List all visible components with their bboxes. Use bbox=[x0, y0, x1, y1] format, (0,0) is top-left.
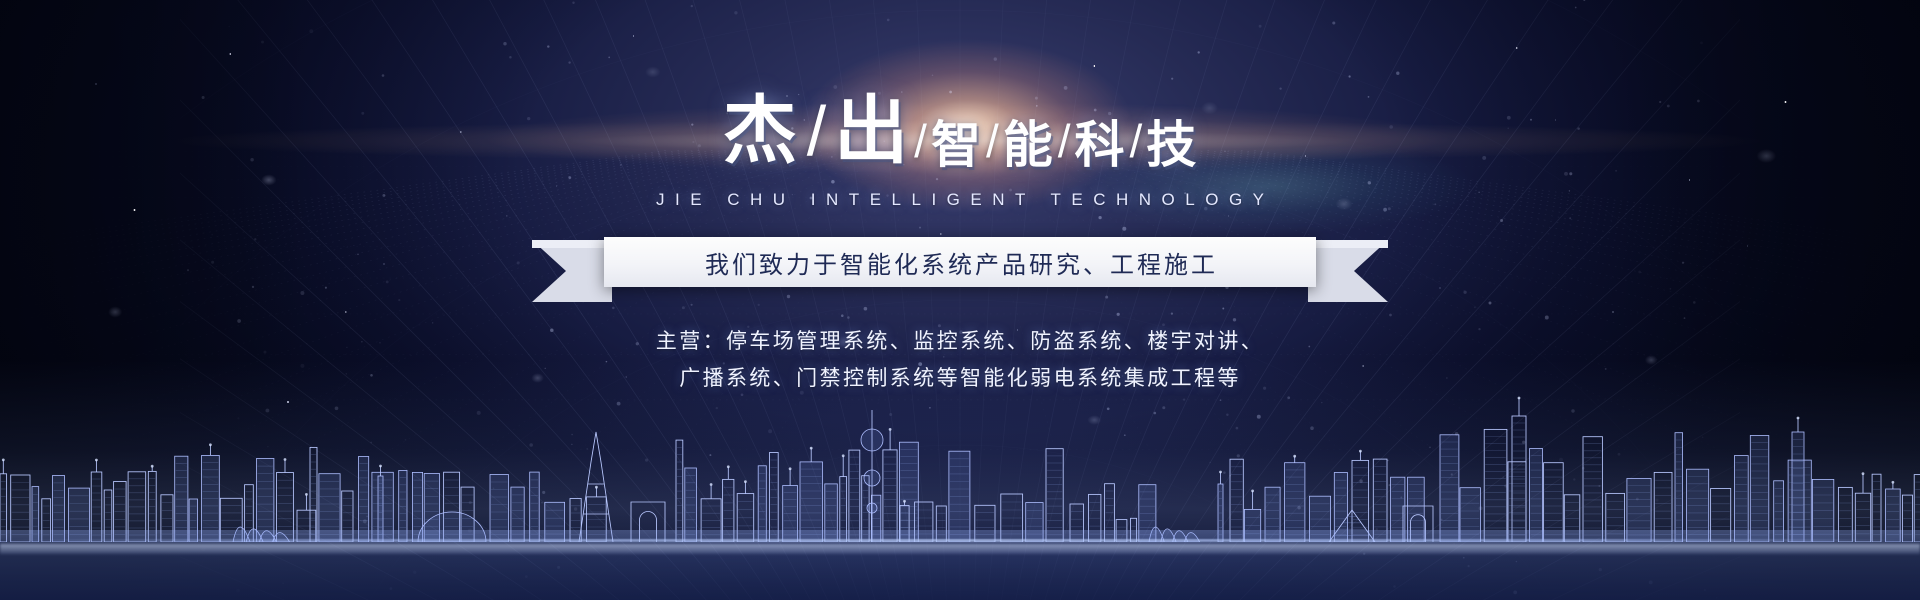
title-char-4: 能 bbox=[1003, 120, 1054, 170]
ribbon-banner: 我们致力于智能化系统产品研究、工程施工 bbox=[0, 234, 1920, 290]
ribbon-tail-left-icon bbox=[532, 240, 612, 302]
hero-banner: 杰 / 出 / 智 / 能 / 科 / 技 JIE CHU INTELLIGEN… bbox=[0, 0, 1920, 600]
title-slash-4: / bbox=[1058, 114, 1071, 168]
title-char-1: 杰 bbox=[723, 94, 799, 168]
title-char-2: 出 bbox=[834, 94, 910, 168]
description-paragraph: 主营：停车场管理系统、监控系统、防盗系统、楼宇对讲、 广播系统、门禁控制系统等智… bbox=[0, 324, 1920, 398]
title-char-5: 科 bbox=[1075, 120, 1126, 170]
title-char-6: 技 bbox=[1146, 120, 1197, 170]
description-line-1: 主营：停车场管理系统、监控系统、防盗系统、楼宇对讲、 bbox=[0, 324, 1920, 361]
title-slash-2: / bbox=[914, 114, 927, 168]
banner-content: 杰 / 出 / 智 / 能 / 科 / 技 JIE CHU INTELLIGEN… bbox=[0, 0, 1920, 398]
ribbon-text: 我们致力于智能化系统产品研究、工程施工 bbox=[702, 245, 1218, 280]
description-line-2: 广播系统、门禁控制系统等智能化弱电系统集成工程等 bbox=[0, 361, 1920, 398]
title-slash-5: / bbox=[1130, 114, 1143, 168]
subtitle-english: JIE CHU INTELLIGENT TECHNOLOGY bbox=[0, 190, 1920, 210]
ribbon-tail-right-icon bbox=[1308, 240, 1388, 302]
page-title: 杰 / 出 / 智 / 能 / 科 / 技 bbox=[0, 88, 1920, 174]
title-slash-1: / bbox=[807, 91, 826, 171]
water-reflection bbox=[0, 530, 1920, 600]
city-skyline-icon bbox=[0, 392, 1920, 542]
title-slash-3: / bbox=[986, 114, 999, 168]
ribbon-plate: 我们致力于智能化系统产品研究、工程施工 bbox=[604, 237, 1316, 287]
title-char-3: 智 bbox=[931, 120, 982, 170]
water-shine-line bbox=[0, 544, 1920, 554]
